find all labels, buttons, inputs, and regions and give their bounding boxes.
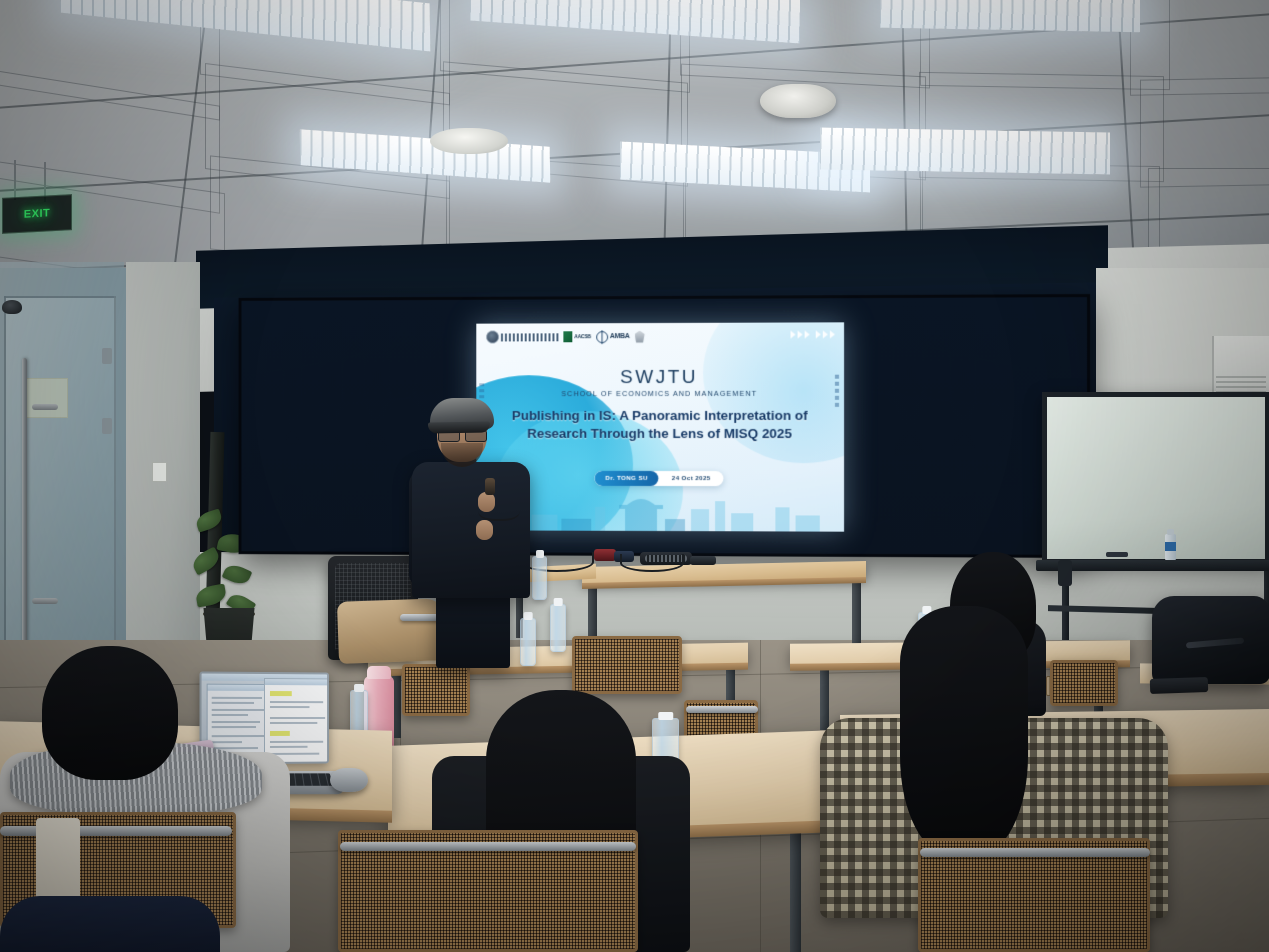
ceiling-dome-light [430,128,508,154]
amba-logo: AMBA [596,330,630,343]
door-hinge [102,418,112,434]
chair-arm [0,826,232,836]
slide-cityscape-illustration [476,485,844,532]
chair[interactable] [402,664,470,716]
desk-remote [690,556,716,565]
computer-mouse[interactable] [330,768,368,792]
presenter-cap-brim [428,421,490,433]
seminar-room-photo: EXIT AACSB [0,0,1269,952]
slide-university-name: SWJTU [476,367,844,390]
desk-cable [620,554,684,572]
door-hinge [102,348,112,364]
coat-on-chair [337,598,447,664]
presenter-desk-leg [852,578,861,650]
whiteboard-marker[interactable] [1106,552,1128,557]
ceiling-light-panel [820,127,1110,174]
light-switch[interactable] [152,462,167,482]
whiteboard-clamp [1058,560,1072,586]
aacsb-label: AACSB [574,334,591,340]
aacsb-logo: AACSB [563,330,591,343]
chair-arm [686,706,758,713]
slide-chevron-decoration [791,330,835,338]
exit-sign-label: EXIT [24,207,50,220]
presentation-slide: AACSB AMBA SWJTU SCHOOL OF ECONOMICS AND… [476,322,844,531]
exit-sign: EXIT [2,194,72,234]
swjtu-seal-logo [486,330,558,343]
exit-sign-hanger [14,160,16,200]
audience-foreground-navy-jacket [0,896,220,952]
frosted-glass-door[interactable] [4,296,116,682]
slide-accreditation-logos: AACSB AMBA [486,330,644,343]
whiteboard[interactable] [1042,392,1269,564]
smartphone[interactable] [1150,677,1208,694]
smoke-detector-icon [760,84,836,118]
water-bottle[interactable] [532,556,547,600]
chair[interactable] [1050,660,1118,706]
amba-label: AMBA [610,333,630,340]
ceiling-light-panel [880,0,1140,32]
slide-badge-group: Dr. TONG SU 24 Oct 2025 [595,471,724,486]
power-adapter [594,549,616,561]
chair-arm [340,842,636,851]
presenter-remote[interactable] [485,478,495,495]
security-camera-icon [2,300,22,314]
table-leg [790,830,801,952]
slide-school-name: SCHOOL OF ECONOMICS AND MANAGEMENT [476,389,844,398]
slide-date-badge: 24 Oct 2025 [659,471,724,486]
audience-right-front-hair [900,606,1028,856]
presenter-torso [412,462,530,598]
presenter-legs [436,592,510,668]
laptop-window-right [264,678,329,764]
door-notice-paper [26,378,68,418]
water-bottle[interactable] [550,604,566,652]
chair[interactable] [572,636,682,694]
laptop-window-left [207,684,271,759]
equis-logo [635,330,645,343]
table-leg [820,664,829,730]
presenter-hand [476,520,493,540]
chair-arm [920,848,1150,857]
audience-front-left-hair [42,646,178,780]
door-handle[interactable] [22,358,27,658]
water-bottle[interactable] [520,618,536,666]
slide-speaker-badge: Dr. TONG SU [595,471,659,486]
spray-bottle-label [1165,542,1176,551]
slide-title: Publishing in IS: A Panoramic Interpreta… [498,407,822,443]
wall-display[interactable]: AACSB AMBA SWJTU SCHOOL OF ECONOMICS AND… [239,294,1091,558]
presenter-cable [478,497,520,521]
